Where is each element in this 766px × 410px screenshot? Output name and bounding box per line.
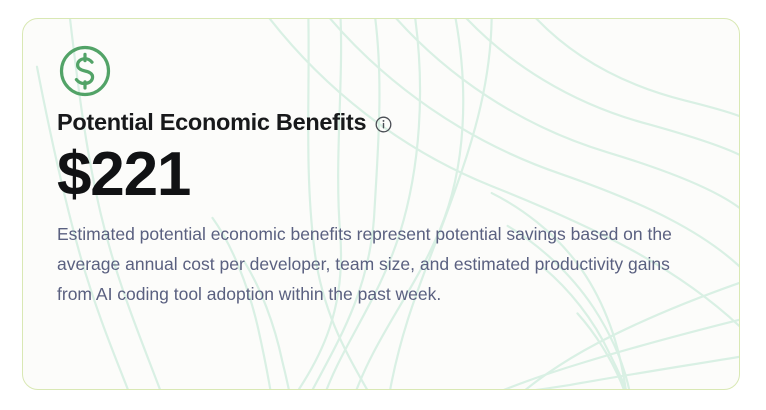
card-header: Potential Economic Benefits [57,109,709,136]
card-content: Potential Economic Benefits $221 Estimat… [23,19,739,309]
card-title: Potential Economic Benefits [57,109,366,136]
metric-description: Estimated potential economic benefits re… [57,219,705,309]
screen: Potential Economic Benefits $221 Estimat… [0,0,766,410]
potential-economic-benefits-card: Potential Economic Benefits $221 Estimat… [22,18,740,390]
dollar-circle-icon [57,43,113,99]
info-icon[interactable] [375,116,392,133]
metric-value: $221 [57,142,709,209]
